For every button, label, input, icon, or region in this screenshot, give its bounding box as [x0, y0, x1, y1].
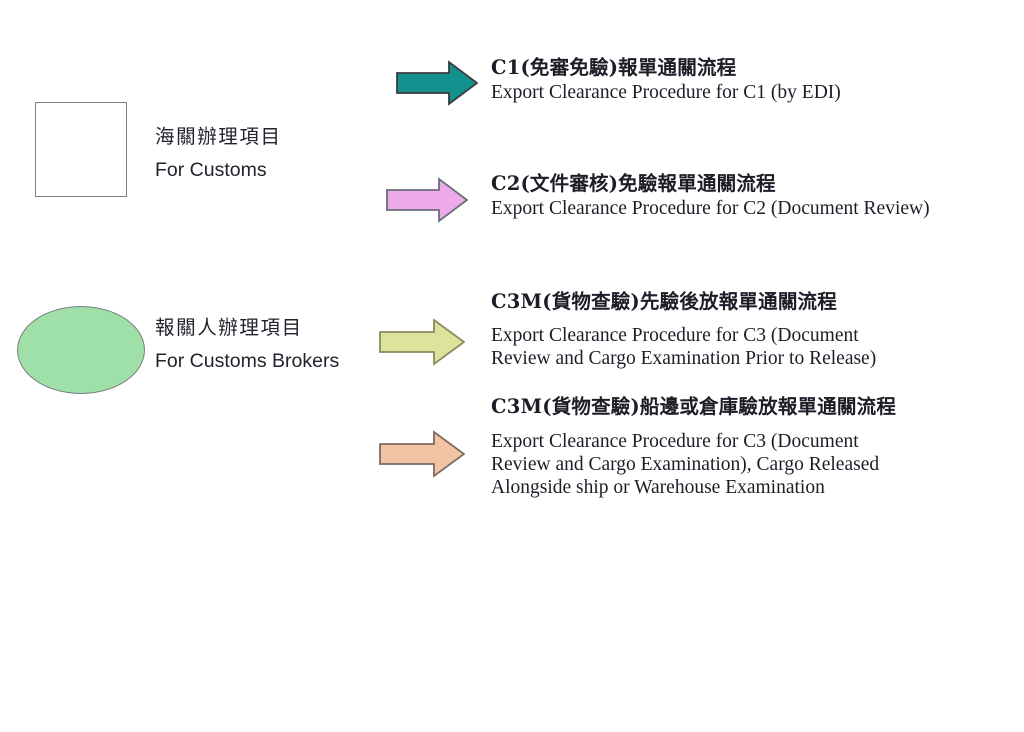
procedure-subtitle-c2: Export Clearance Procedure for C2 (Docum…	[491, 197, 1021, 220]
legend-label-for-customs-brokers: 報關人辦理項目 For Customs Brokers	[155, 315, 339, 376]
arrow-right-icon-c3m-1	[379, 318, 465, 366]
procedure-subtitle-c1: Export Clearance Procedure for C1 (by ED…	[491, 81, 1021, 104]
procedure-subtitle-c3m-1: Export Clearance Procedure for C3 (Docum…	[491, 324, 961, 370]
diagram-canvas: 海關辦理項目 For Customs 報關人辦理項目 For Customs B…	[0, 0, 1024, 732]
procedure-block-c1: C1(免審免驗)報單通關流程 Export Clearance Procedur…	[491, 56, 1021, 104]
arrow-right-icon-c3m-2	[379, 430, 465, 478]
procedure-title-c3m-2: C3M(貨物查驗)船邊或倉庫驗放報單通關流程	[491, 398, 983, 416]
procedure-block-c2: C2(文件審核)免驗報單通關流程 Export Clearance Proced…	[491, 172, 1021, 220]
arrow-right-icon-c1	[396, 60, 478, 106]
procedure-title-c2: C2(文件審核)免驗報單通關流程	[491, 172, 1021, 196]
legend-brokers-en: For Customs Brokers	[155, 347, 339, 375]
procedure-block-c3m-1: C3M(貨物查驗)先驗後放報單通關流程 Export Clearance Pro…	[491, 290, 961, 370]
legend-label-for-customs: 海關辦理項目 For Customs	[155, 124, 282, 185]
procedure-subtitle-c3m-2: Export Clearance Procedure for C3 (Docum…	[491, 430, 991, 499]
legend-shape-green-ellipse	[17, 306, 145, 394]
legend-customs-cjk: 海關辦理項目	[155, 124, 282, 149]
arrow-right-icon-c2	[386, 177, 468, 223]
legend-customs-en: For Customs	[155, 156, 282, 184]
procedure-title-c3m-1: C3M(貨物查驗)先驗後放報單通關流程	[491, 290, 961, 314]
legend-shape-white-square	[35, 102, 127, 197]
legend-brokers-cjk: 報關人辦理項目	[155, 315, 339, 340]
procedure-block-c3m-2: C3M(貨物查驗)船邊或倉庫驗放報單通關流程 Export Clearance …	[491, 398, 991, 499]
procedure-title-c1: C1(免審免驗)報單通關流程	[491, 56, 1021, 80]
